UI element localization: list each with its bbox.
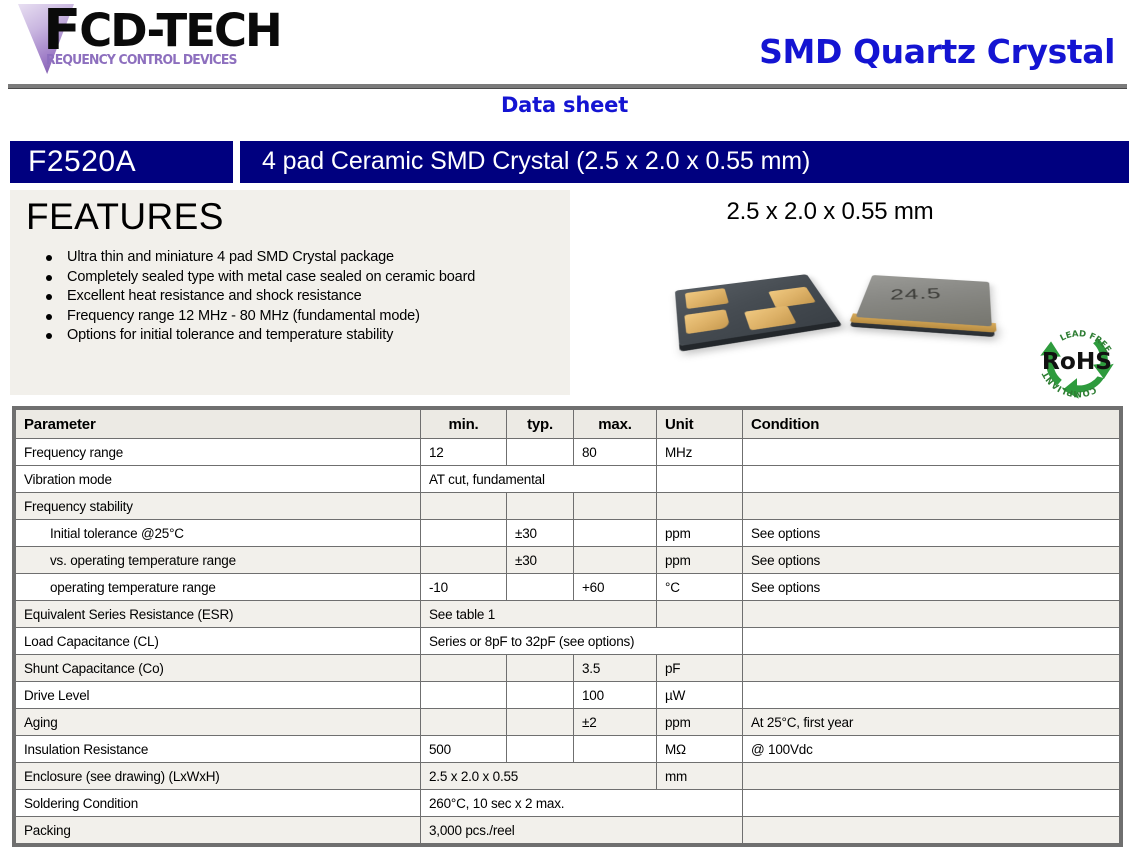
cell-max [574, 520, 657, 547]
cell-min [421, 655, 507, 682]
cell-parameter: operating temperature range [16, 574, 421, 601]
bullet-icon [46, 333, 52, 339]
features-panel: FEATURES Ultra thin and miniature 4 pad … [10, 190, 570, 395]
cell-merged-value: 260°C, 10 sec x 2 max. [421, 790, 743, 817]
product-photo: 24.5 [672, 248, 1022, 368]
col-header-parameter: Parameter [16, 410, 421, 439]
cell-condition: See options [743, 574, 1120, 601]
table-row: Packing3,000 pcs./reel [16, 817, 1120, 844]
cell-merged-value: 3,000 pcs./reel [421, 817, 743, 844]
features-heading: FEATURES [26, 196, 224, 238]
product-description-label: 4 pad Ceramic SMD Crystal (2.5 x 2.0 x 0… [262, 147, 810, 176]
cell-parameter: Drive Level [16, 682, 421, 709]
table-body: Frequency range1280MHzVibration modeAT c… [16, 439, 1120, 844]
table-row: operating temperature range-10+60°C See … [16, 574, 1120, 601]
cell-min [421, 709, 507, 736]
cell-condition [743, 655, 1120, 682]
cell-max [574, 493, 657, 520]
cell-parameter: Enclosure (see drawing) (LxWxH) [16, 763, 421, 790]
cell-unit: ppm [657, 547, 743, 574]
cell-unit: °C [657, 574, 743, 601]
cell-condition [743, 682, 1120, 709]
table-row: Frequency stability [16, 493, 1120, 520]
part-number-bar: F2520A [10, 141, 233, 183]
list-item: Ultra thin and miniature 4 pad SMD Cryst… [38, 248, 475, 268]
cell-parameter: Aging [16, 709, 421, 736]
company-logo: FCD-TECH REQUENCY CONTROL DEVICES [18, 2, 204, 80]
cell-min [421, 493, 507, 520]
cell-min [421, 520, 507, 547]
bullet-icon [46, 314, 52, 320]
cell-condition [743, 790, 1120, 817]
table-row: Frequency range1280MHz [16, 439, 1120, 466]
cell-parameter: Frequency stability [16, 493, 421, 520]
cell-typ [507, 439, 574, 466]
table-row: vs. operating temperature range±30ppmSee… [16, 547, 1120, 574]
col-header-min: min. [421, 410, 507, 439]
list-item: Frequency range 12 MHz - 80 MHz (fundame… [38, 307, 475, 327]
logo-word-rest: CD-TECH [79, 4, 280, 57]
cell-merged-value: AT cut, fundamental [421, 466, 657, 493]
svg-text:RoHS: RoHS [1042, 348, 1112, 375]
cell-unit: ppm [657, 520, 743, 547]
cell-typ [507, 655, 574, 682]
cell-min: 500 [421, 736, 507, 763]
cell-condition [743, 466, 1120, 493]
cell-max: 3.5 [574, 655, 657, 682]
cell-unit: MΩ [657, 736, 743, 763]
bullet-icon [46, 275, 52, 281]
logo-wordmark: FCD-TECH [43, 2, 281, 57]
table-row: Initial tolerance @25°C±30ppmSee options [16, 520, 1120, 547]
cell-min: -10 [421, 574, 507, 601]
bullet-icon [46, 255, 52, 261]
cell-unit [657, 601, 743, 628]
feature-text: Excellent heat resistance and shock resi… [67, 288, 362, 304]
table-row: Equivalent Series Resistance (ESR)See ta… [16, 601, 1120, 628]
cell-merged-value: See table 1 [421, 601, 657, 628]
cell-max [574, 547, 657, 574]
logo-subtitle: REQUENCY CONTROL DEVICES [46, 52, 237, 68]
table-row: Aging±2ppmAt 25°C, first year [16, 709, 1120, 736]
cell-condition [743, 601, 1120, 628]
cell-condition [743, 439, 1120, 466]
page-title: SMD Quartz Crystal [759, 32, 1115, 71]
cell-parameter: Shunt Capacitance (Co) [16, 655, 421, 682]
col-header-max: max. [574, 410, 657, 439]
cell-typ [507, 709, 574, 736]
cell-max: +60 [574, 574, 657, 601]
cell-typ [507, 682, 574, 709]
feature-text: Completely sealed type with metal case s… [67, 269, 475, 285]
cell-unit [657, 466, 743, 493]
cell-parameter: Insulation Resistance [16, 736, 421, 763]
cell-parameter: vs. operating temperature range [16, 547, 421, 574]
package-marking-text: 24.5 [890, 285, 943, 304]
product-description-bar: 4 pad Ceramic SMD Crystal (2.5 x 2.0 x 0… [240, 141, 1129, 183]
col-header-condition: Condition [743, 410, 1120, 439]
list-item: Excellent heat resistance and shock resi… [38, 287, 475, 307]
cell-condition [743, 493, 1120, 520]
cell-typ: ±30 [507, 547, 574, 574]
cell-unit: MHz [657, 439, 743, 466]
table-row: Drive Level100µW [16, 682, 1120, 709]
specification-table: Parameter min. typ. max. Unit Condition … [15, 409, 1120, 844]
header-divider [8, 84, 1127, 89]
crystal-bottom-view-image [675, 274, 839, 346]
cell-typ [507, 574, 574, 601]
feature-text: Frequency range 12 MHz - 80 MHz (fundame… [67, 308, 420, 324]
cell-unit: pF [657, 655, 743, 682]
cell-min: 12 [421, 439, 507, 466]
cell-unit: µW [657, 682, 743, 709]
cell-parameter: Frequency range [16, 439, 421, 466]
cell-min [421, 682, 507, 709]
cell-condition: At 25°C, first year [743, 709, 1120, 736]
cell-condition: See options [743, 547, 1120, 574]
specification-table-wrapper: Parameter min. typ. max. Unit Condition … [12, 406, 1123, 847]
cell-parameter: Soldering Condition [16, 790, 421, 817]
cell-parameter: Vibration mode [16, 466, 421, 493]
cell-unit: ppm [657, 709, 743, 736]
table-header-row: Parameter min. typ. max. Unit Condition [16, 410, 1120, 439]
cell-max: 80 [574, 439, 657, 466]
cell-parameter: Load Capacitance (CL) [16, 628, 421, 655]
rohs-compliant-icon: RoHS LEAD FREE COMPLIANT [1031, 319, 1123, 405]
table-row: Shunt Capacitance (Co)3.5pF [16, 655, 1120, 682]
cell-typ [507, 493, 574, 520]
cell-condition: See options [743, 520, 1120, 547]
cell-typ [507, 736, 574, 763]
table-row: Soldering Condition260°C, 10 sec x 2 max… [16, 790, 1120, 817]
cell-parameter: Packing [16, 817, 421, 844]
part-number-label: F2520A [28, 145, 136, 179]
bullet-icon [46, 294, 52, 300]
col-header-typ: typ. [507, 410, 574, 439]
list-item: Options for initial tolerance and temper… [38, 326, 475, 346]
list-item: Completely sealed type with metal case s… [38, 268, 475, 288]
table-row: Enclosure (see drawing) (LxWxH)2.5 x 2.0… [16, 763, 1120, 790]
features-list: Ultra thin and miniature 4 pad SMD Cryst… [38, 248, 475, 346]
cell-condition [743, 628, 1120, 655]
page-subtitle: Data sheet [0, 93, 1129, 117]
cell-merged-value: 2.5 x 2.0 x 0.55 [421, 763, 657, 790]
table-row: Insulation Resistance500MΩ@ 100Vdc [16, 736, 1120, 763]
feature-text: Options for initial tolerance and temper… [67, 327, 393, 343]
cell-max [574, 736, 657, 763]
cell-condition [743, 817, 1120, 844]
feature-text: Ultra thin and miniature 4 pad SMD Cryst… [67, 249, 394, 265]
cell-max: ±2 [574, 709, 657, 736]
table-row: Vibration modeAT cut, fundamental [16, 466, 1120, 493]
cell-condition [743, 763, 1120, 790]
cell-unit [657, 493, 743, 520]
cell-max: 100 [574, 682, 657, 709]
crystal-top-view-image: 24.5 [847, 274, 996, 337]
cell-unit: mm [657, 763, 743, 790]
table-row: Load Capacitance (CL)Series or 8pF to 32… [16, 628, 1120, 655]
cell-merged-value: Series or 8pF to 32pF (see options) [421, 628, 743, 655]
cell-min [421, 547, 507, 574]
package-dimension-caption: 2.5 x 2.0 x 0.55 mm [600, 198, 1060, 226]
page-header: FCD-TECH REQUENCY CONTROL DEVICES SMD Qu… [0, 0, 1129, 86]
cell-parameter: Equivalent Series Resistance (ESR) [16, 601, 421, 628]
cell-parameter: Initial tolerance @25°C [16, 520, 421, 547]
cell-typ: ±30 [507, 520, 574, 547]
col-header-unit: Unit [657, 410, 743, 439]
cell-condition: @ 100Vdc [743, 736, 1120, 763]
